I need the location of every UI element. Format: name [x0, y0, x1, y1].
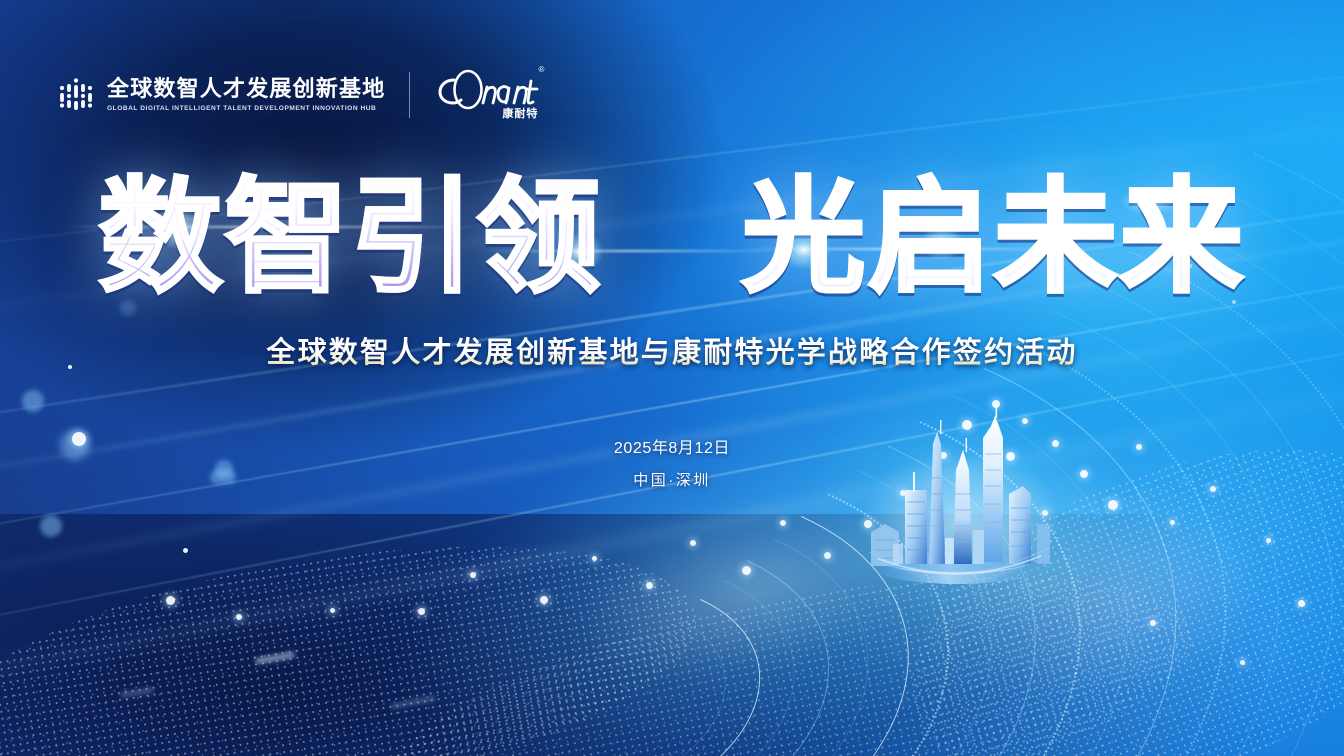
event-location: 中国·深圳 — [0, 469, 1344, 490]
poster-canvas: 全球数智人才发展创新基地 GLOBAL DIGITAL INTELLIGENT … — [0, 0, 1344, 756]
registered-trademark-icon: ® — [539, 66, 545, 74]
bokeh — [780, 520, 786, 526]
logo-divider — [409, 72, 410, 118]
logo-bar: 全球数智人才发展创新基地 GLOBAL DIGITAL INTELLIGENT … — [58, 66, 540, 124]
bokeh — [1298, 600, 1305, 607]
bokeh — [166, 596, 175, 605]
bokeh — [40, 515, 62, 537]
headline-part-1: 数智引领 — [99, 176, 603, 300]
headline-part-2: 光启未来 — [741, 176, 1245, 300]
dot-matrix-logo-icon — [58, 75, 96, 115]
bokeh — [690, 540, 696, 546]
bokeh — [418, 608, 425, 615]
poster-subtitle: 全球数智人才发展创新基地与康耐特光学战略合作签约活动 — [0, 329, 1344, 371]
hub-logo-text: 全球数智人才发展创新基地 GLOBAL DIGITAL INTELLIGENT … — [107, 78, 385, 112]
bokeh — [1150, 620, 1156, 626]
bokeh — [183, 548, 188, 553]
bokeh — [592, 556, 597, 561]
event-meta: 2025年8月12日 中国·深圳 — [0, 434, 1344, 490]
city-skyline-illustration — [845, 398, 1075, 598]
bokeh — [540, 596, 548, 604]
event-date: 2025年8月12日 — [0, 434, 1344, 458]
bokeh — [330, 608, 335, 613]
bokeh — [742, 566, 751, 575]
poster-headline: 数智引领 光启未来 — [0, 176, 1344, 300]
bokeh — [1240, 660, 1245, 665]
conant-name-cn: 康耐特 — [502, 105, 538, 121]
conant-wordmark-icon — [436, 68, 540, 110]
conant-logo: ® 康耐特 — [436, 68, 540, 122]
hub-name-en: GLOBAL DIGITAL INTELLIGENT TALENT DEVELO… — [107, 105, 385, 112]
bokeh — [646, 582, 653, 589]
bokeh — [1266, 538, 1271, 543]
bokeh — [470, 572, 476, 578]
bokeh — [236, 614, 242, 620]
bokeh — [22, 390, 44, 412]
hub-name-cn: 全球数智人才发展创新基地 — [107, 78, 385, 100]
bokeh — [1170, 520, 1175, 525]
